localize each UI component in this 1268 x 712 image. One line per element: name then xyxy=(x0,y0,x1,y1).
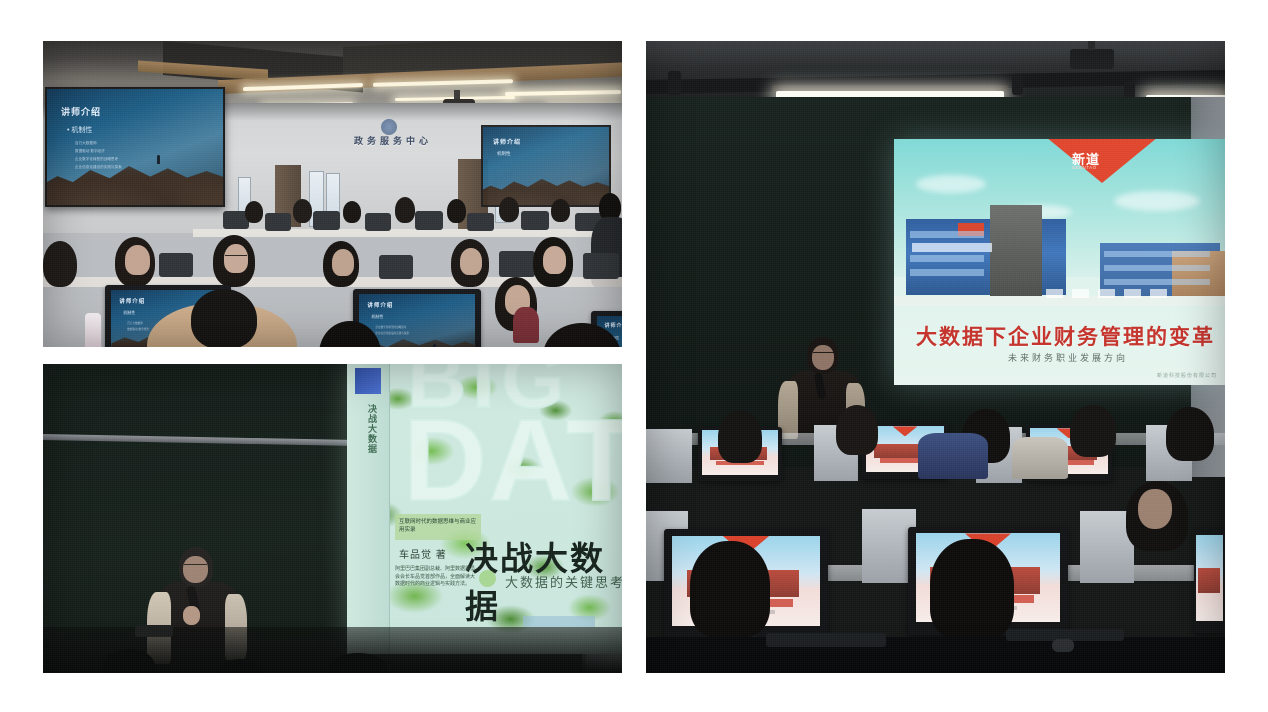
monitor-slide-body-2: 企业数字化转型的战略思考 xyxy=(375,326,433,330)
monitor-back-2 xyxy=(265,213,291,231)
slide-window-row-6 xyxy=(1104,279,1210,285)
student-r-mid-4 xyxy=(1070,405,1116,457)
monitor-slide-bullet: 机制性 xyxy=(123,310,135,316)
cover-author: 车品觉 著 xyxy=(399,546,447,561)
student-blue-jacket xyxy=(918,433,988,479)
ceiling-projector-right xyxy=(1070,49,1114,69)
front-desk-dark-band xyxy=(646,637,1225,673)
cover-subtitle-cn: 大数据的关键思考 xyxy=(505,572,622,591)
student-mid-2-glasses-icon xyxy=(225,255,247,260)
slide-body-line-3: 企业信息化建设的实践与探索 xyxy=(75,165,159,170)
slide-fence-3 xyxy=(1098,289,1115,298)
slide-bullet-label: 机制性 xyxy=(71,127,92,134)
photo-right-lab: 新道 SEENTAO 大数据下企业财务管理的变革 未来财务职业发展方向 新道科技… xyxy=(646,41,1225,673)
slide-body-line-0: 百万大数据师 xyxy=(75,141,159,146)
monitor-mid-3 xyxy=(499,251,535,277)
slide-bullet: • 机制性 xyxy=(67,125,92,135)
monitor-slide-title-2: 讲师介绍 xyxy=(367,301,393,309)
student-r-right-face xyxy=(1138,489,1172,529)
monitor-front-r-3-screen xyxy=(1196,535,1224,620)
desk-row-back xyxy=(193,229,622,237)
slide-title-2: 讲师介绍 xyxy=(493,137,521,146)
slide-title: 讲师介绍 xyxy=(61,105,101,118)
slide-bullet-2: 机制性 xyxy=(497,151,511,157)
spine-badge-icon xyxy=(355,368,381,394)
student-back-5 xyxy=(447,199,466,223)
monitor-slide-title: 讲师介绍 xyxy=(119,297,145,305)
slide-building-nameplate xyxy=(912,243,992,252)
slide-fence-1 xyxy=(1046,289,1063,298)
projection-screen-secondary: 讲师介绍 机制性 xyxy=(481,125,611,207)
monitor-slide-title-3: 讲师介绍 xyxy=(605,322,623,329)
monitor-mid-2 xyxy=(379,255,413,279)
photo-collage: 政务服务中心 讲师介绍 • 机制性 百万大数据师 数据驱动 数字经济 企业数字化… xyxy=(0,0,1268,712)
slide-main-title: 大数据下企业财务管理的变革 xyxy=(916,321,1215,351)
slide-window-row-4 xyxy=(1104,251,1210,257)
ceiling-speaker-left xyxy=(668,71,681,95)
student-r-mid-2 xyxy=(836,405,878,455)
foreground-student-r-2 xyxy=(930,539,1014,639)
student-mid-6-hair xyxy=(43,241,77,287)
foreground-student-r-1 xyxy=(690,541,770,637)
student-mid-5-face xyxy=(543,246,566,274)
monitor-front-building-3 xyxy=(1198,568,1219,594)
water-bottle xyxy=(85,313,101,347)
slide-logo-subtext: SEENTAO xyxy=(1072,165,1097,170)
presenter-glasses-icon xyxy=(184,564,207,570)
student-mid-3-face xyxy=(332,249,354,276)
slide-window-row-2 xyxy=(910,255,984,262)
cover-headline-bottom: DATA xyxy=(403,408,622,512)
wall-emblem-icon xyxy=(381,119,397,135)
slide-building-far xyxy=(1172,251,1225,297)
monitor-back-6 xyxy=(467,213,494,231)
monitor-mid-1 xyxy=(159,253,193,277)
slide-cloud-2 xyxy=(1114,191,1200,211)
slide-building-tower xyxy=(990,205,1042,297)
right-presenter-glasses-icon xyxy=(813,352,834,357)
student-mid-4-face xyxy=(460,248,482,275)
photo-top-left-classroom: 政务服务中心 讲师介绍 • 机制性 百万大数据师 数据驱动 数字经济 企业数字化… xyxy=(43,41,622,347)
presenter-hand xyxy=(183,606,200,625)
slide-credit: 新道科技股份有限公司 xyxy=(1157,372,1217,379)
right-presenter-face xyxy=(812,345,834,370)
student-r-mid-5 xyxy=(1166,407,1214,461)
student-back-3 xyxy=(343,201,361,223)
wall-sign-text: 政务服务中心 xyxy=(333,134,453,156)
slide-window-row-3 xyxy=(910,269,984,276)
slide-fence-4 xyxy=(1124,289,1141,298)
monitor-slide-body-3: 企业信息化建设的实践与探索 xyxy=(375,332,433,336)
slide-fence-2 xyxy=(1072,289,1089,298)
student-back-4 xyxy=(395,197,415,223)
monitor-slide-banner-icon-2 xyxy=(893,426,918,436)
projection-screen-main: 讲师介绍 • 机制性 百万大数据师 数据驱动 数字经济 企业数字化转型的战略思考… xyxy=(45,87,225,207)
slide-fence-5 xyxy=(1150,289,1167,298)
projected-book-cover-slide: 决战大数据 BIG DATA 互联网时代的数据思维与商业应用实录 决战大数据 车… xyxy=(347,364,622,654)
projector-mount xyxy=(1088,41,1095,50)
monitor-front-r-3 xyxy=(1194,529,1225,633)
slide-window-row-5 xyxy=(1104,265,1210,271)
cover-publisher-bar xyxy=(523,616,595,627)
student-back-1 xyxy=(245,201,263,223)
slide-body-line-2: 企业数字化转型的战略思考 xyxy=(75,157,159,162)
slide-body-line-1: 数据驱动 数字经济 xyxy=(75,149,159,154)
keyboard-front-1 xyxy=(766,633,886,647)
cover-blurb: 阿里巴巴集团副总裁、阿里数据委员会会长车品觉首部作品，全面解读大数据时代的商业逻… xyxy=(395,566,479,589)
monitor-slide-figure-icon-2 xyxy=(433,344,436,347)
slide-sub-title: 未来财务职业发展方向 xyxy=(1008,351,1128,364)
foreground-student-hoodie-hair xyxy=(191,289,257,347)
cover-dot-icon xyxy=(479,570,496,587)
monitor-slide-bullet-2: 机制性 xyxy=(371,314,383,320)
student-back-6 xyxy=(499,197,519,222)
student-r-mid-1 xyxy=(718,411,762,463)
slide-window-row-1 xyxy=(910,231,984,238)
mouse-front xyxy=(1052,639,1074,652)
book-spine-title: 决战大数据 xyxy=(359,404,377,454)
ceiling-speaker-center xyxy=(1012,75,1023,95)
slide-cloud-1 xyxy=(916,175,986,193)
desk-partition-1 xyxy=(646,429,692,483)
monitor-back-3 xyxy=(313,211,340,230)
presenter-desk-object xyxy=(135,625,173,637)
student-right-floral-jacket xyxy=(513,307,539,343)
student-back-7 xyxy=(551,199,570,222)
projected-title-slide: 新道 SEENTAO 大数据下企业财务管理的变革 未来财务职业发展方向 新道科技… xyxy=(894,139,1225,385)
student-back-2 xyxy=(293,199,312,223)
photo-bottom-left-lecture: 决战大数据 BIG DATA 互联网时代的数据思维与商业应用实录 决战大数据 车… xyxy=(43,364,622,673)
monitor-back-5 xyxy=(415,211,443,230)
monitor-back-4 xyxy=(365,213,391,231)
student-mid-1-face xyxy=(125,245,150,275)
student-grey-hoodie xyxy=(1012,437,1068,479)
monitor-mid-4 xyxy=(583,253,619,279)
monitor-back-7 xyxy=(521,211,549,230)
